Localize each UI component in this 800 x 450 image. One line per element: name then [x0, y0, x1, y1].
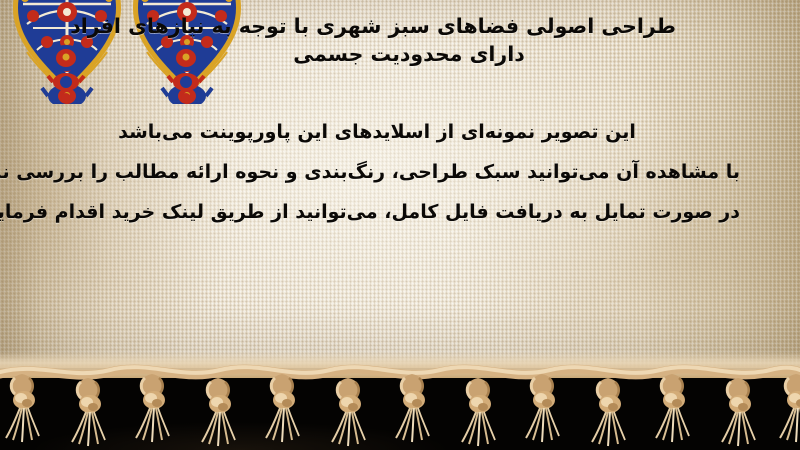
carpet-fringe-tassels — [0, 352, 800, 450]
fringe-knots — [0, 352, 800, 450]
slide-canvas: طراحی اصولی فضاهای سبز شهری با توجه به ن… — [0, 0, 800, 450]
slide-body-line-2: با مشاهده آن می‌توانید سبک طراحی، رنگ‌بن… — [48, 152, 748, 192]
slide-body-text: این تصویر نمونه‌ای از اسلایدهای این پاور… — [48, 112, 748, 232]
slide-title-line-2: دارای محدودیت جسمی — [142, 40, 742, 68]
slide-title: طراحی اصولی فضاهای سبز شهری با توجه به ن… — [142, 12, 742, 68]
slide-body-line-3: در صورت تمایل به دریافت فایل کامل، می‌تو… — [48, 192, 748, 232]
slide-body-line-1: این تصویر نمونه‌ای از اسلایدهای این پاور… — [48, 112, 748, 152]
slide-title-line-1: طراحی اصولی فضاهای سبز شهری با توجه به ن… — [142, 12, 742, 40]
slide-text-layer: طراحی اصولی فضاهای سبز شهری با توجه به ن… — [0, 0, 800, 372]
